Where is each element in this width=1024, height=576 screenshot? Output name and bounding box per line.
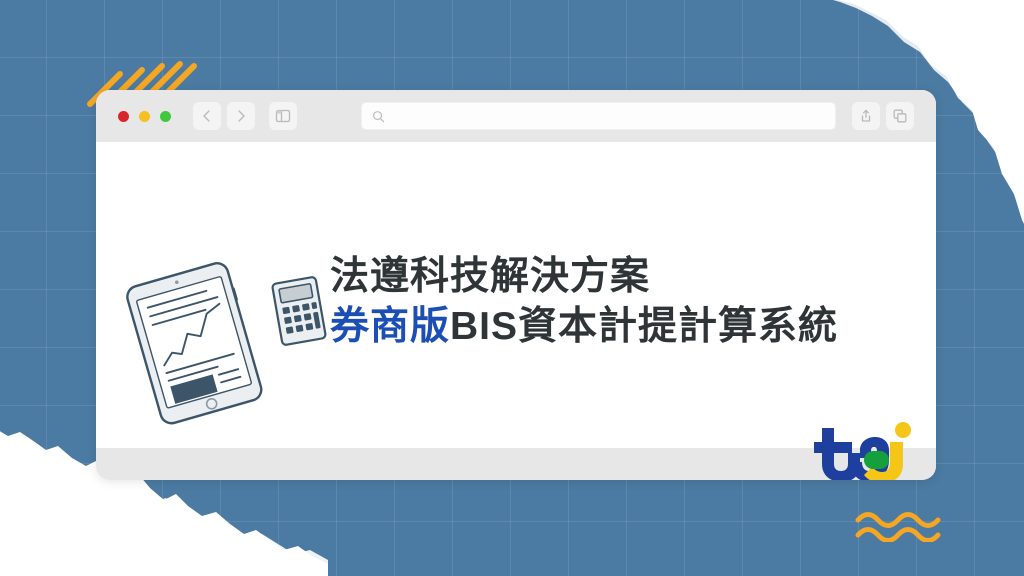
tablet-document-illustration (110, 260, 280, 425)
back-button[interactable] (193, 102, 221, 130)
share-icon (858, 108, 874, 124)
tabs-button[interactable] (886, 102, 914, 130)
maximize-button[interactable] (160, 111, 171, 122)
search-input[interactable] (393, 110, 825, 122)
headline-line-1: 法遵科技解決方案 (330, 252, 930, 302)
sidebar-toggle-icon (275, 108, 291, 124)
share-button[interactable] (852, 102, 880, 130)
forward-button[interactable] (227, 102, 255, 130)
duplicate-tabs-icon (892, 108, 908, 124)
calculator-illustration (264, 272, 334, 350)
tej-logo (808, 420, 918, 480)
navigation-buttons[interactable] (193, 102, 255, 130)
close-button[interactable] (118, 111, 129, 122)
minimize-button[interactable] (139, 111, 150, 122)
browser-titlebar (96, 90, 936, 142)
search-icon (372, 110, 385, 123)
page-content: 法遵科技解決方案 券商版BIS資本計提計算系統 (96, 142, 936, 448)
browser-actions[interactable] (852, 102, 914, 130)
slide-canvas: 法遵科技解決方案 券商版BIS資本計提計算系統 (0, 0, 1024, 576)
sidebar-toggle-button[interactable] (269, 102, 297, 130)
chevron-left-icon (200, 109, 214, 123)
wavy-lines-icon (855, 508, 941, 542)
chevron-right-icon (234, 109, 248, 123)
browser-window: 法遵科技解決方案 券商版BIS資本計提計算系統 (96, 90, 936, 480)
headline-accent: 券商版 (330, 305, 450, 348)
headline-rest: BIS資本計提計算系統 (450, 305, 838, 348)
window-controls[interactable] (118, 111, 171, 122)
address-bar[interactable] (361, 102, 836, 130)
headline-block: 法遵科技解決方案 券商版BIS資本計提計算系統 (330, 252, 930, 352)
headline-line-2: 券商版BIS資本計提計算系統 (330, 302, 930, 352)
